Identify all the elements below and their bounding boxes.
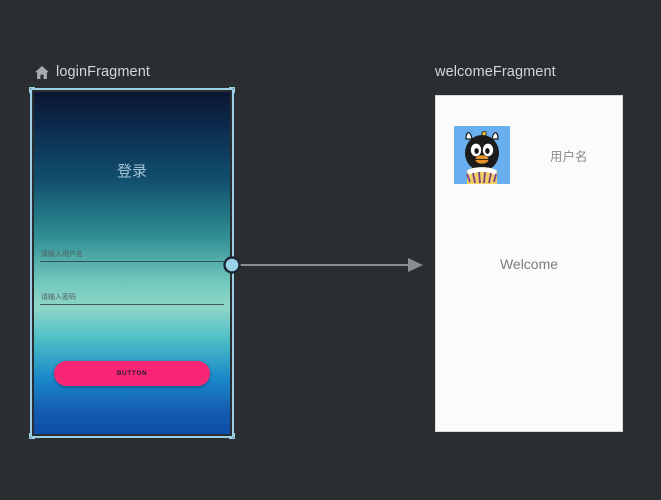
action-arrow-login-to-welcome[interactable] xyxy=(218,248,428,282)
destination-label-text: welcomeFragment xyxy=(435,64,556,80)
resize-handle-top-left[interactable] xyxy=(29,87,35,93)
loginfragment-preview: 登录 请输入用户名 请输入密码 BUTTON xyxy=(34,92,230,434)
username-placeholder: 请输入用户名 xyxy=(41,249,83,259)
destination-node-welcomefragment[interactable]: 用户名 Welcome xyxy=(435,95,623,432)
destination-label-text: loginFragment xyxy=(56,64,150,80)
resize-handle-bottom-left[interactable] xyxy=(29,433,35,439)
password-field[interactable]: 请输入密码 xyxy=(40,285,224,305)
login-title: 登录 xyxy=(34,160,230,181)
welcome-user-row: 用户名 xyxy=(436,126,622,184)
password-underline xyxy=(40,304,224,305)
destination-label-welcomefragment[interactable]: welcomeFragment xyxy=(435,64,556,80)
resize-handle-top-right[interactable] xyxy=(229,87,235,93)
username-field[interactable]: 请输入用户名 xyxy=(40,242,224,262)
welcome-message: Welcome xyxy=(436,256,622,272)
navigation-editor-canvas[interactable]: loginFragment 登录 请输入用户名 请输入密码 BUTTON wel… xyxy=(0,0,661,500)
qq-penguin-avatar-icon xyxy=(454,126,510,184)
destination-label-loginfragment[interactable]: loginFragment xyxy=(34,64,150,80)
destination-node-loginfragment[interactable]: 登录 请输入用户名 请输入密码 BUTTON xyxy=(30,88,234,438)
password-placeholder: 请输入密码 xyxy=(41,292,76,302)
login-button[interactable]: BUTTON xyxy=(54,361,210,386)
welcome-username: 用户名 xyxy=(550,146,588,165)
username-underline xyxy=(40,261,224,262)
home-icon xyxy=(34,65,50,80)
resize-handle-bottom-right[interactable] xyxy=(229,433,235,439)
